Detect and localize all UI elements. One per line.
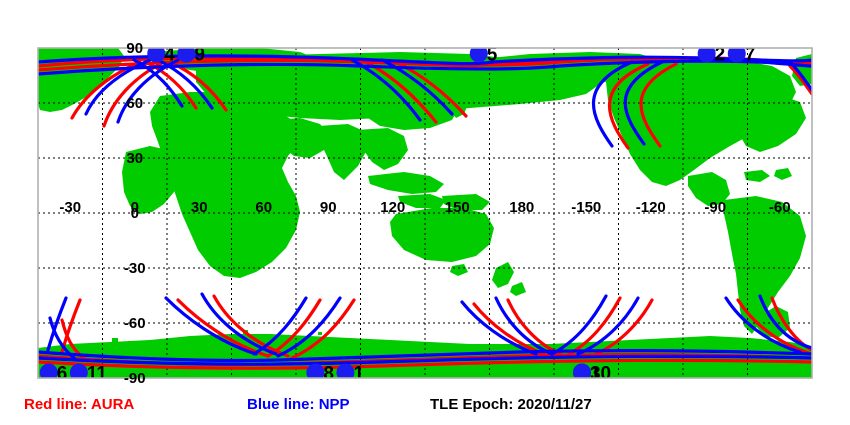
latitude-tick-label: 60	[126, 95, 143, 112]
legend-npp-label: Blue line:	[247, 396, 315, 413]
longitude-tick-label: 60	[255, 199, 272, 216]
satellite-marker-label: 8	[323, 364, 334, 385]
longitude-tick-label: -150	[571, 199, 601, 216]
chart-legend: Red line: AURA Blue line: NPP TLE Epoch:…	[0, 390, 850, 425]
legend-aura-label: Red line:	[24, 396, 87, 413]
legend-aura: Red line: AURA	[24, 396, 134, 413]
latitude-tick-label: -90	[124, 370, 146, 387]
longitude-tick-label: 90	[320, 199, 337, 216]
longitude-tick-label: -120	[636, 199, 666, 216]
longitude-tick-label: 30	[191, 199, 208, 216]
legend-npp: Blue line: NPP	[247, 396, 350, 413]
legend-npp-value: NPP	[319, 396, 350, 413]
legend-aura-value: AURA	[91, 396, 134, 413]
latitude-tick-label: 30	[126, 150, 143, 167]
longitude-tick-label: -30	[59, 199, 81, 216]
latitude-tick-label: 90	[126, 40, 143, 57]
longitude-tick-label: -90	[704, 199, 726, 216]
longitude-tick-label: 120	[380, 199, 405, 216]
satellite-marker-label: 6	[57, 364, 68, 385]
longitude-tick-label: -60	[769, 199, 791, 216]
satellite-marker-label: 11	[87, 364, 108, 385]
longitude-tick-label: 150	[445, 199, 470, 216]
latitude-tick-label: -30	[124, 260, 146, 277]
ground-track-map: 4952761181103 -300306090120150180-150-12…	[0, 0, 850, 390]
satellite-marker-label: 3	[590, 364, 601, 385]
tle-epoch-label: TLE Epoch:	[430, 396, 513, 413]
legend-tle-epoch: TLE Epoch: 2020/11/27	[430, 396, 592, 413]
latitude-tick-label: -60	[124, 315, 146, 332]
longitude-tick-label: 180	[509, 199, 534, 216]
world-map-plot: 4952761181103 -300306090120150180-150-12…	[0, 0, 850, 390]
satellite-marker-label: 1	[353, 364, 364, 385]
latitude-tick-label: 0	[131, 205, 139, 222]
tle-epoch-value: 2020/11/27	[518, 396, 592, 413]
